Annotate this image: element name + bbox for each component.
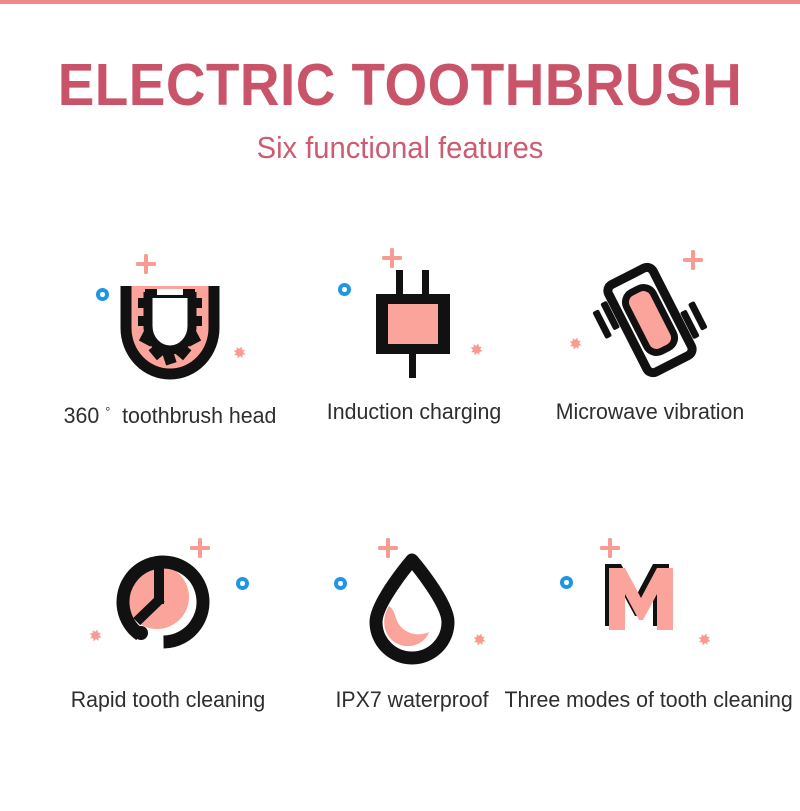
blue-ring-decoration-icon xyxy=(96,288,109,301)
feature-row-1: 360 ° toothbrush head xyxy=(0,240,800,455)
sparkle-decoration-icon xyxy=(86,628,103,645)
feature-cell-ipx7-waterproof: IPX7 waterproof xyxy=(304,528,520,743)
plus-decoration-icon xyxy=(136,254,156,274)
degree-symbol: ° xyxy=(105,404,110,419)
power-plug-icon xyxy=(370,270,462,378)
caption-degrees-value: 360 xyxy=(64,403,100,428)
mouthguard-teeth-icon xyxy=(118,284,222,380)
icon-area xyxy=(518,240,782,390)
page-subtitle: Six functional features xyxy=(24,129,776,167)
icon-area xyxy=(296,240,532,390)
blue-ring-decoration-icon xyxy=(560,576,573,589)
vibrating-device-icon xyxy=(586,265,714,375)
sparkle-decoration-icon xyxy=(566,336,583,353)
blue-ring-decoration-icon xyxy=(334,577,347,590)
icon-area xyxy=(304,528,520,678)
plus-decoration-icon xyxy=(600,538,620,558)
feature-cell-rapid-tooth-cleaning: Rapid tooth cleaning xyxy=(24,528,312,743)
clock-timer-icon xyxy=(111,550,215,654)
icon-area xyxy=(500,528,796,678)
feature-cell-microwave-vibration: Microwave vibration xyxy=(518,240,782,455)
icon-area xyxy=(24,528,312,678)
feature-caption: Rapid tooth cleaning xyxy=(28,686,307,714)
sparkle-decoration-icon xyxy=(230,345,247,362)
feature-caption: Microwave vibration xyxy=(522,398,778,426)
feature-caption: IPX7 waterproof xyxy=(307,686,517,714)
sparkle-decoration-icon xyxy=(467,342,484,359)
feature-cell-360-toothbrush-head: 360 ° toothbrush head xyxy=(30,240,310,455)
water-droplet-icon xyxy=(368,554,460,660)
feature-caption: Three modes of tooth cleaning xyxy=(504,686,791,714)
feature-row-2: Rapid tooth cleaning IPX7 waterproof xyxy=(0,528,800,743)
plus-decoration-icon xyxy=(382,248,402,268)
feature-cell-induction-charging: Induction charging xyxy=(296,240,532,455)
caption-text: toothbrush head xyxy=(122,403,276,428)
icon-area xyxy=(30,240,310,390)
top-accent-bar xyxy=(0,0,800,4)
feature-cell-three-modes-of-tooth-cleaning: Three modes of tooth cleaning xyxy=(500,528,796,743)
feature-caption: 360 ° toothbrush head xyxy=(34,398,306,430)
sparkle-decoration-icon xyxy=(470,632,487,649)
sparkle-decoration-icon xyxy=(695,632,712,649)
blue-ring-decoration-icon xyxy=(236,577,249,590)
feature-caption: Induction charging xyxy=(300,398,529,426)
blue-ring-decoration-icon xyxy=(338,283,351,296)
letter-m-icon xyxy=(603,564,687,638)
page-title: ELECTRIC TOOTHBRUSH xyxy=(28,52,772,118)
